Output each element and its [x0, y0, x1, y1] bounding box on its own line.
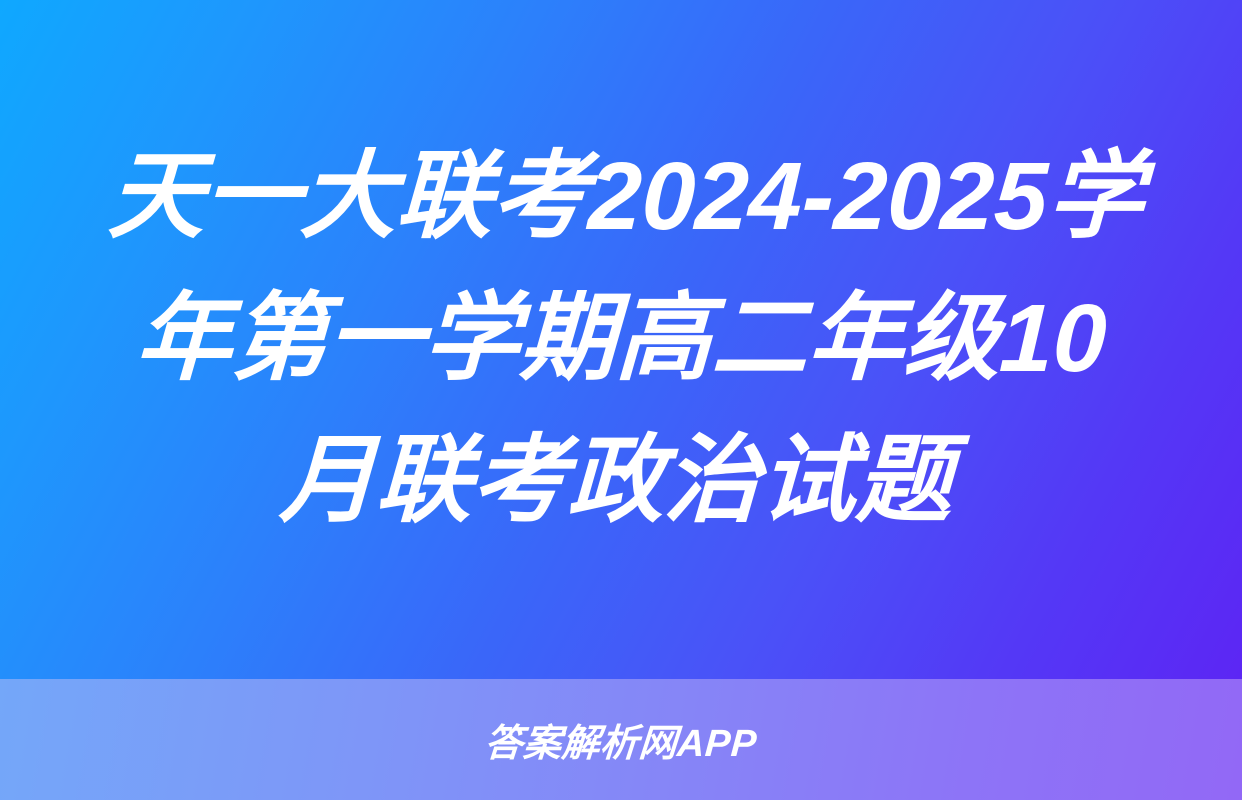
watermark-bar: 答案解析网APP: [0, 679, 1242, 800]
app-watermark-label: 答案解析网APP: [483, 712, 759, 767]
exam-cover-card: 天一大联考2024-2025学年第一学期高二年级10月联考政治试题 答案解析网A…: [0, 0, 1242, 800]
exam-title: 天一大联考2024-2025学年第一学期高二年级10月联考政治试题: [89, 126, 1154, 552]
title-block: 天一大联考2024-2025学年第一学期高二年级10月联考政治试题: [0, 0, 1242, 679]
